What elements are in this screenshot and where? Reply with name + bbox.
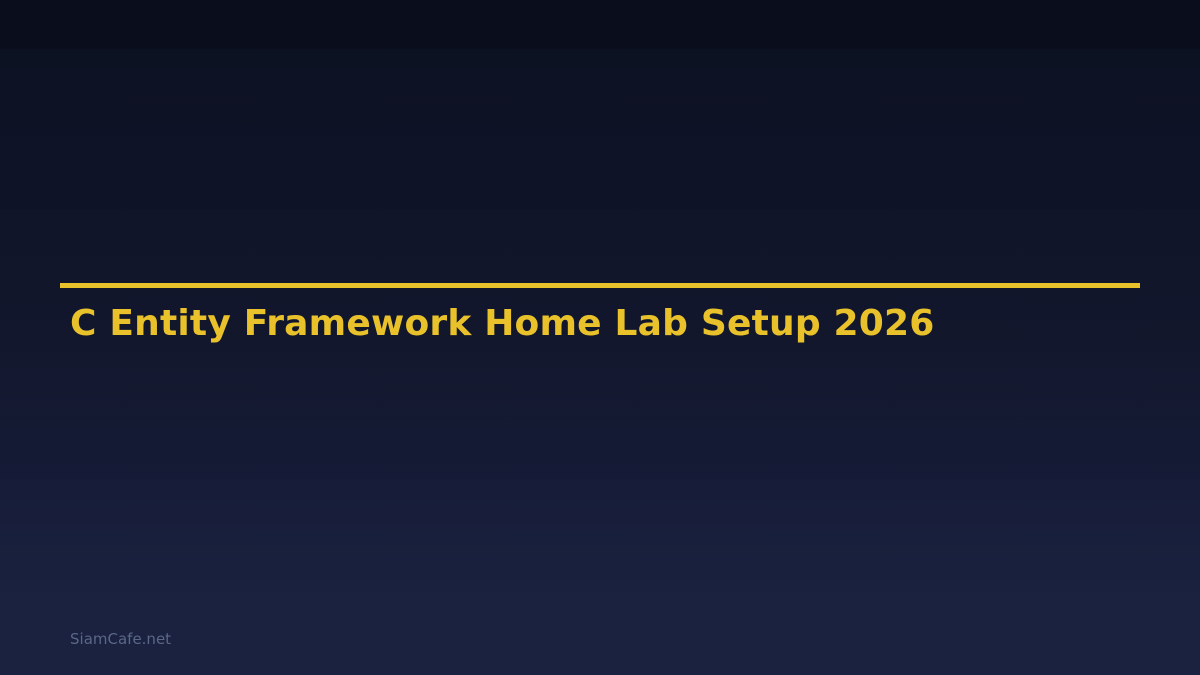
footer-source-label: SiamCafe.net bbox=[70, 629, 171, 649]
page-title: C Entity Framework Home Lab Setup 2026 bbox=[70, 303, 935, 345]
title-accent-rule bbox=[60, 283, 1140, 288]
title-slide: C Entity Framework Home Lab Setup 2026 S… bbox=[0, 0, 1200, 675]
